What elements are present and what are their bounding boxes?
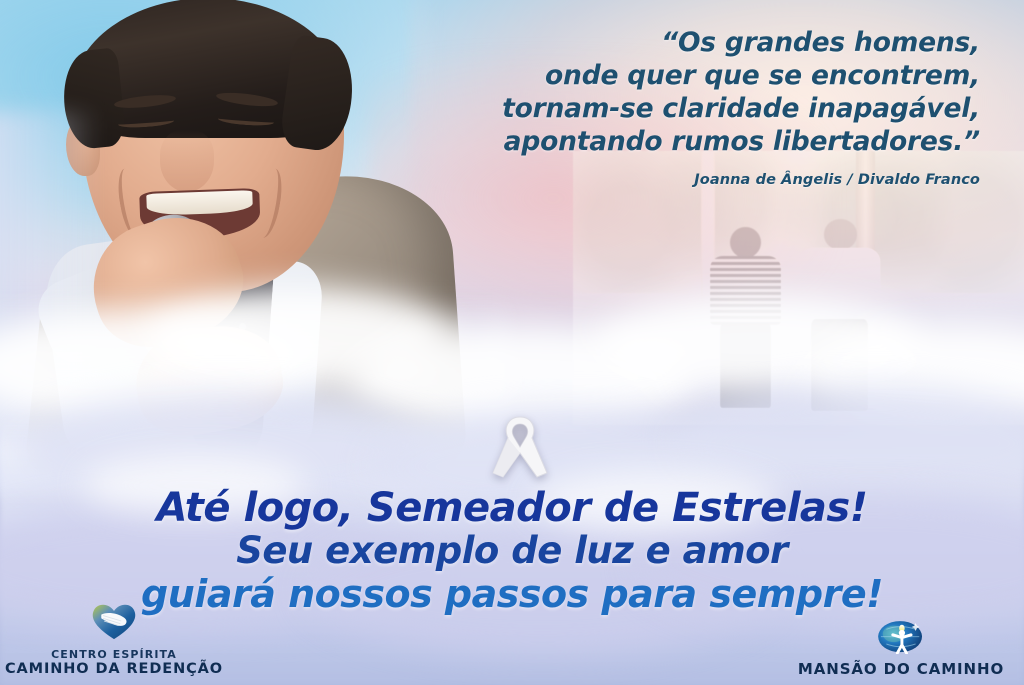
background-photo — [573, 151, 1024, 425]
quote-text: “Os grandes homens, onde quer que se enc… — [420, 26, 980, 158]
portrait-photo — [8, 0, 468, 462]
portrait-fade-bottom — [0, 292, 508, 492]
quote-line-3: tornam-se claridade inapagável, — [420, 92, 980, 125]
logo-centro-espirita: CENTRO ESPÍRITA CAMINHO DA REDENÇÃO — [4, 601, 224, 677]
portrait-teeth — [146, 190, 252, 216]
headline-line-1: Até logo, Semeador de Estrelas! — [0, 486, 1024, 530]
quote-line-1: “Os grandes homens, — [420, 26, 980, 59]
logo-left-line-1: CENTRO ESPÍRITA — [51, 648, 177, 661]
headline-line-2: Seu exemplo de luz e amor — [0, 530, 1024, 572]
quote-line-4: apontando rumos libertadores.” — [420, 125, 980, 158]
background-person-striped-shirt — [710, 227, 781, 408]
logo-mansao-do-caminho: MANSÃO DO CAMINHO — [786, 612, 1016, 677]
logo-right-line-2: MANSÃO DO CAMINHO — [798, 661, 1004, 677]
portrait-hair-side-right — [279, 34, 360, 154]
logo-left-line-2: CAMINHO DA REDENÇÃO — [5, 661, 223, 677]
tribute-poster: “Os grandes homens, onde quer que se enc… — [0, 0, 1024, 685]
mourning-ribbon-icon — [487, 411, 553, 483]
quote-line-2: onde quer que se encontrem, — [420, 59, 980, 92]
headline: Até logo, Semeador de Estrelas! Seu exem… — [0, 486, 1024, 616]
globe-figure-flame-icon — [875, 612, 927, 658]
background-person-white-shirt — [800, 219, 880, 411]
portrait-nose — [160, 130, 214, 192]
heart-hands-icon — [86, 601, 142, 645]
quote-attribution: Joanna de Ângelis / Divaldo Franco — [420, 172, 980, 188]
